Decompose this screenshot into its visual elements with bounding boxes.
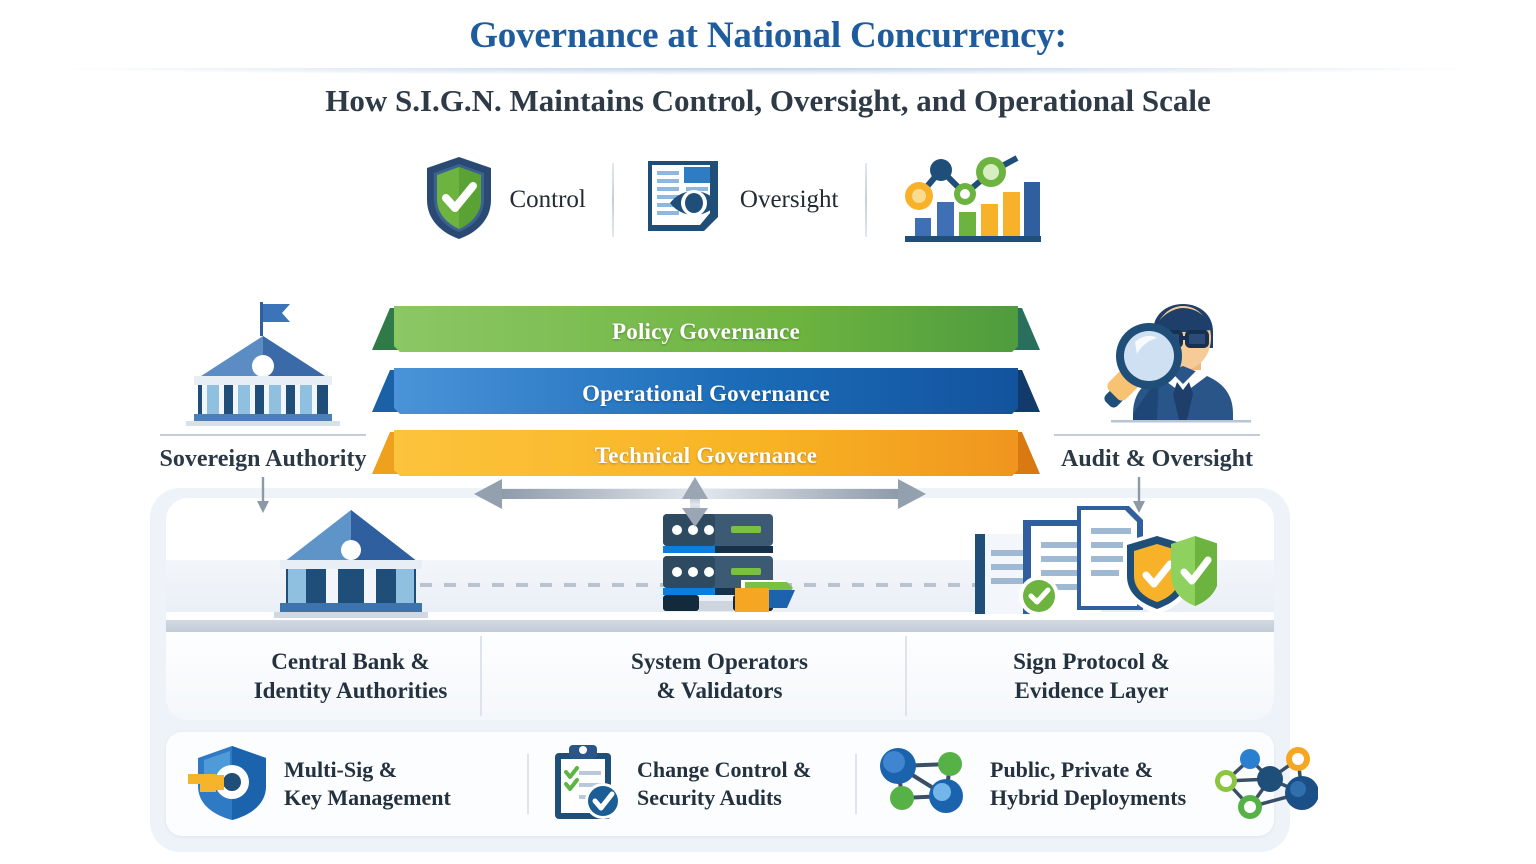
feature-divider (855, 754, 857, 814)
feature-label: Public, Private &Hybrid Deployments (990, 756, 1186, 811)
pillar-control: Control (397, 154, 611, 247)
server-rack-icon (535, 504, 904, 624)
ribbon-label: Technical Governance (372, 430, 1040, 482)
title-divider (60, 68, 1476, 75)
government-building-icon (148, 298, 378, 428)
clipboard-check-icon (547, 741, 623, 828)
bar-line-chart-icon (893, 150, 1043, 251)
infographic-canvas: Governance at National Concurrency: How … (0, 0, 1536, 864)
network-nodes-icon (876, 744, 976, 825)
pillar-scale (867, 150, 1083, 251)
feature-deployments: Public, Private &Hybrid Deployments (876, 732, 1318, 836)
page-subtitle: How S.I.G.N. Maintains Control, Oversigh… (0, 83, 1536, 119)
feature-label: Change Control &Security Audits (637, 756, 811, 811)
documents-shields-icon (907, 504, 1276, 624)
feature-divider (527, 754, 529, 814)
governance-ribbons: Policy Governance Operational Governance (372, 300, 1040, 478)
ribbon-technical-governance: Technical Governance (372, 430, 1040, 482)
layer-label: Central Bank &Identity Authorities (166, 648, 535, 706)
bank-building-icon (166, 506, 535, 624)
side-divider (160, 434, 366, 436)
page-title: Governance at National Concurrency: (0, 14, 1536, 57)
shield-key-icon (182, 742, 270, 827)
layer-label: Sign Protocol &Evidence Layer (907, 648, 1276, 706)
pillar-oversight: Oversight (614, 155, 865, 246)
layer-sign-protocol: Sign Protocol &Evidence Layer (907, 498, 1276, 720)
feature-label: Multi-Sig &Key Management (284, 756, 451, 811)
pillar-label: Oversight (740, 186, 839, 214)
side-label: Audit & Oversight (1042, 446, 1272, 473)
side-label: Sovereign Authority (148, 446, 378, 473)
side-divider (1054, 434, 1260, 436)
ribbon-policy-governance: Policy Governance (372, 306, 1040, 358)
ribbon-operational-governance: Operational Governance (372, 368, 1040, 420)
ribbon-label: Operational Governance (372, 368, 1040, 420)
pillar-row: Control (370, 146, 1110, 254)
layer-central-bank: Central Bank &Identity Authorities (166, 498, 535, 720)
auditor-magnifier-icon (1042, 298, 1272, 428)
feature-change-control: Change Control &Security Audits (547, 732, 811, 836)
shield-check-icon (423, 154, 495, 247)
network-nodes-icon-secondary (1206, 741, 1318, 828)
layer-label: System Operators& Validators (535, 648, 904, 706)
feature-multi-sig: Multi-Sig &Key Management (182, 732, 451, 836)
sovereign-authority-block: Sovereign Authority (148, 298, 378, 473)
layer-system-operators: System Operators& Validators (535, 498, 904, 720)
audit-oversight-block: Audit & Oversight (1042, 298, 1272, 473)
ribbon-label: Policy Governance (372, 306, 1040, 358)
document-eye-icon (640, 155, 726, 246)
pillar-label: Control (509, 186, 585, 214)
